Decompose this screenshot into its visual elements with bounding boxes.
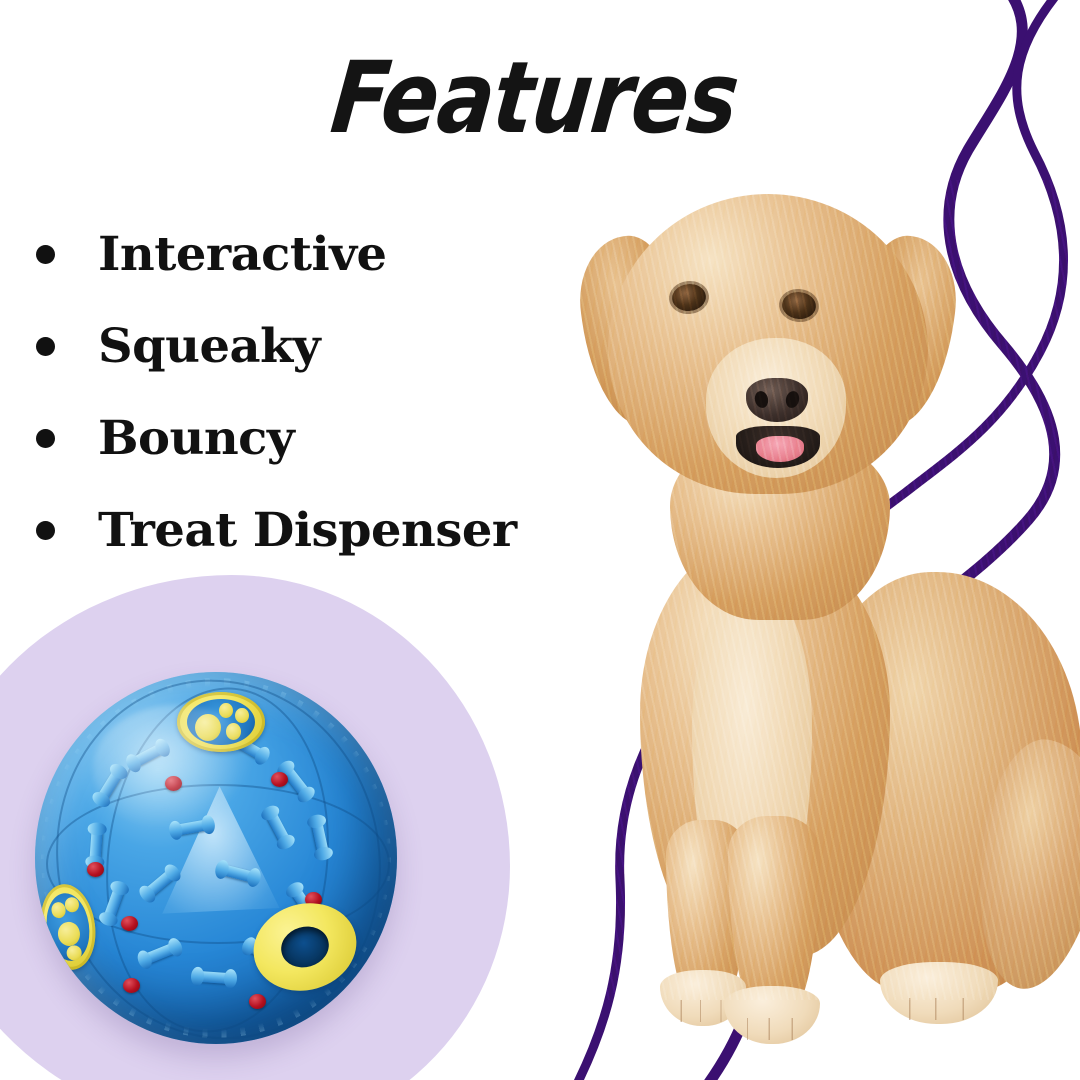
ball-highlight (93, 705, 260, 831)
red-dot-detail (121, 916, 138, 931)
feature-label: Bouncy (98, 411, 294, 466)
feature-label: Interactive (98, 227, 387, 282)
paw-toe-lines (737, 1018, 806, 1040)
dog-nostril-left (753, 390, 770, 410)
paw-toe-lines (897, 998, 982, 1020)
red-dot-detail (123, 978, 140, 993)
infographic-canvas: Features Interactive Squeaky Bouncy Trea… (0, 0, 1080, 1080)
dog-paw-right (724, 986, 820, 1044)
feature-label: Treat Dispenser (98, 503, 517, 558)
bullet-icon (36, 245, 55, 264)
dog-photo (560, 180, 1080, 1000)
bullet-icon (36, 337, 55, 356)
red-dot-detail (249, 994, 266, 1009)
dog-nostril-right (784, 390, 801, 410)
bone-texture (197, 971, 232, 984)
dog-tongue (756, 436, 804, 462)
product-image-ball (35, 672, 397, 1044)
red-dot-detail (271, 772, 288, 787)
bone-texture (89, 828, 102, 863)
red-dot-detail (87, 862, 104, 877)
hole-opening (277, 921, 334, 972)
feature-label: Squeaky (98, 319, 320, 374)
page-title: Features (0, 48, 1080, 147)
bullet-icon (36, 429, 55, 448)
ball-sphere (35, 672, 397, 1044)
dog-paw-back (880, 962, 998, 1024)
bullet-icon (36, 521, 55, 540)
